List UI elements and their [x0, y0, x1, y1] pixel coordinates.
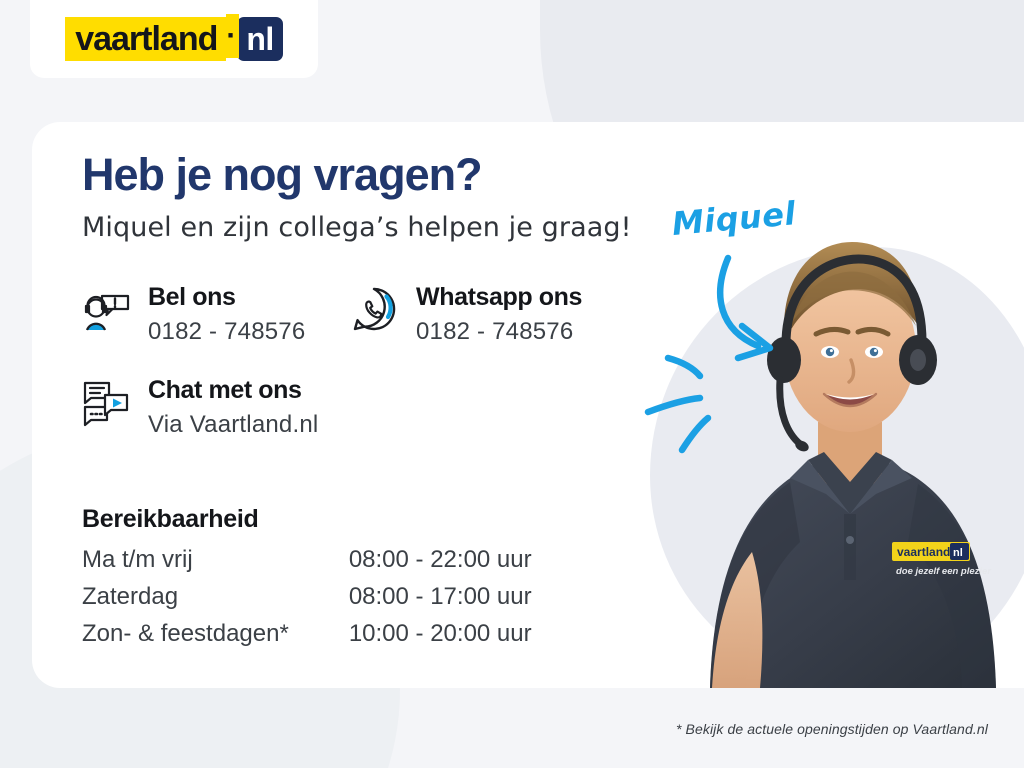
contact-whatsapp-value[interactable]: 0182 - 748576	[416, 318, 582, 346]
chat-bubbles-play-icon	[80, 376, 132, 428]
table-row: Zaterdag 08:00 - 17:00 uur	[82, 584, 532, 621]
footnote: * Bekijk de actuele openingstijden op Va…	[676, 721, 988, 737]
contact-chat-title: Chat met ons	[148, 376, 302, 404]
hours-day: Zaterdag	[82, 584, 349, 621]
contact-block-call[interactable]: Bel ons 0182 - 748576	[80, 283, 305, 346]
availability-title: Bereikbaarheid	[82, 505, 258, 534]
page-title: Heb je nog vragen?	[82, 152, 482, 197]
contact-call-value[interactable]: 0182 - 748576	[148, 318, 305, 346]
table-row: Ma t/m vrij 08:00 - 22:00 uur	[82, 547, 532, 584]
availability-table: Ma t/m vrij 08:00 - 22:00 uur Zaterdag 0…	[82, 547, 532, 659]
hours-time: 10:00 - 20:00 uur	[349, 621, 532, 658]
contact-call-title: Bel ons	[148, 283, 236, 311]
table-row: Zon- & feestdagen* 10:00 - 20:00 uur	[82, 621, 532, 658]
site-logo[interactable]: vaartland · nl	[30, 0, 318, 78]
logo-wordmark: vaartland	[65, 17, 226, 61]
contact-chat-value[interactable]: Via Vaartland.nl	[148, 411, 318, 439]
whatsapp-phone-bubble-icon	[348, 283, 400, 335]
hours-time: 08:00 - 17:00 uur	[349, 584, 532, 621]
contact-call-text: Bel ons 0182 - 748576	[148, 283, 305, 346]
contact-whatsapp-text: Whatsapp ons 0182 - 748576	[416, 283, 582, 346]
contact-block-chat[interactable]: Chat met ons Via Vaartland.nl	[80, 376, 318, 439]
hours-day: Ma t/m vrij	[82, 547, 349, 584]
contact-chat-text: Chat met ons Via Vaartland.nl	[148, 376, 318, 439]
page-subtitle: Miquel en zijn collega’s helpen je graag…	[82, 212, 632, 243]
svg-text:nl: nl	[953, 547, 963, 559]
svg-text:vaartland: vaartland	[897, 545, 950, 559]
hours-time: 08:00 - 22:00 uur	[349, 547, 532, 584]
logo-lockup: vaartland · nl	[65, 17, 283, 61]
contact-whatsapp-title: Whatsapp ons	[416, 283, 582, 311]
person-headset-speech-bubble-icon	[80, 283, 132, 335]
contact-block-whatsapp[interactable]: Whatsapp ons 0182 - 748576	[348, 283, 582, 346]
svg-text:doe jezelf een plezier: doe jezelf een plezier	[896, 566, 992, 577]
logo-tld: nl	[237, 17, 282, 61]
hours-day: Zon- & feestdagen*	[82, 621, 349, 658]
logo-dot: ·	[226, 14, 239, 58]
